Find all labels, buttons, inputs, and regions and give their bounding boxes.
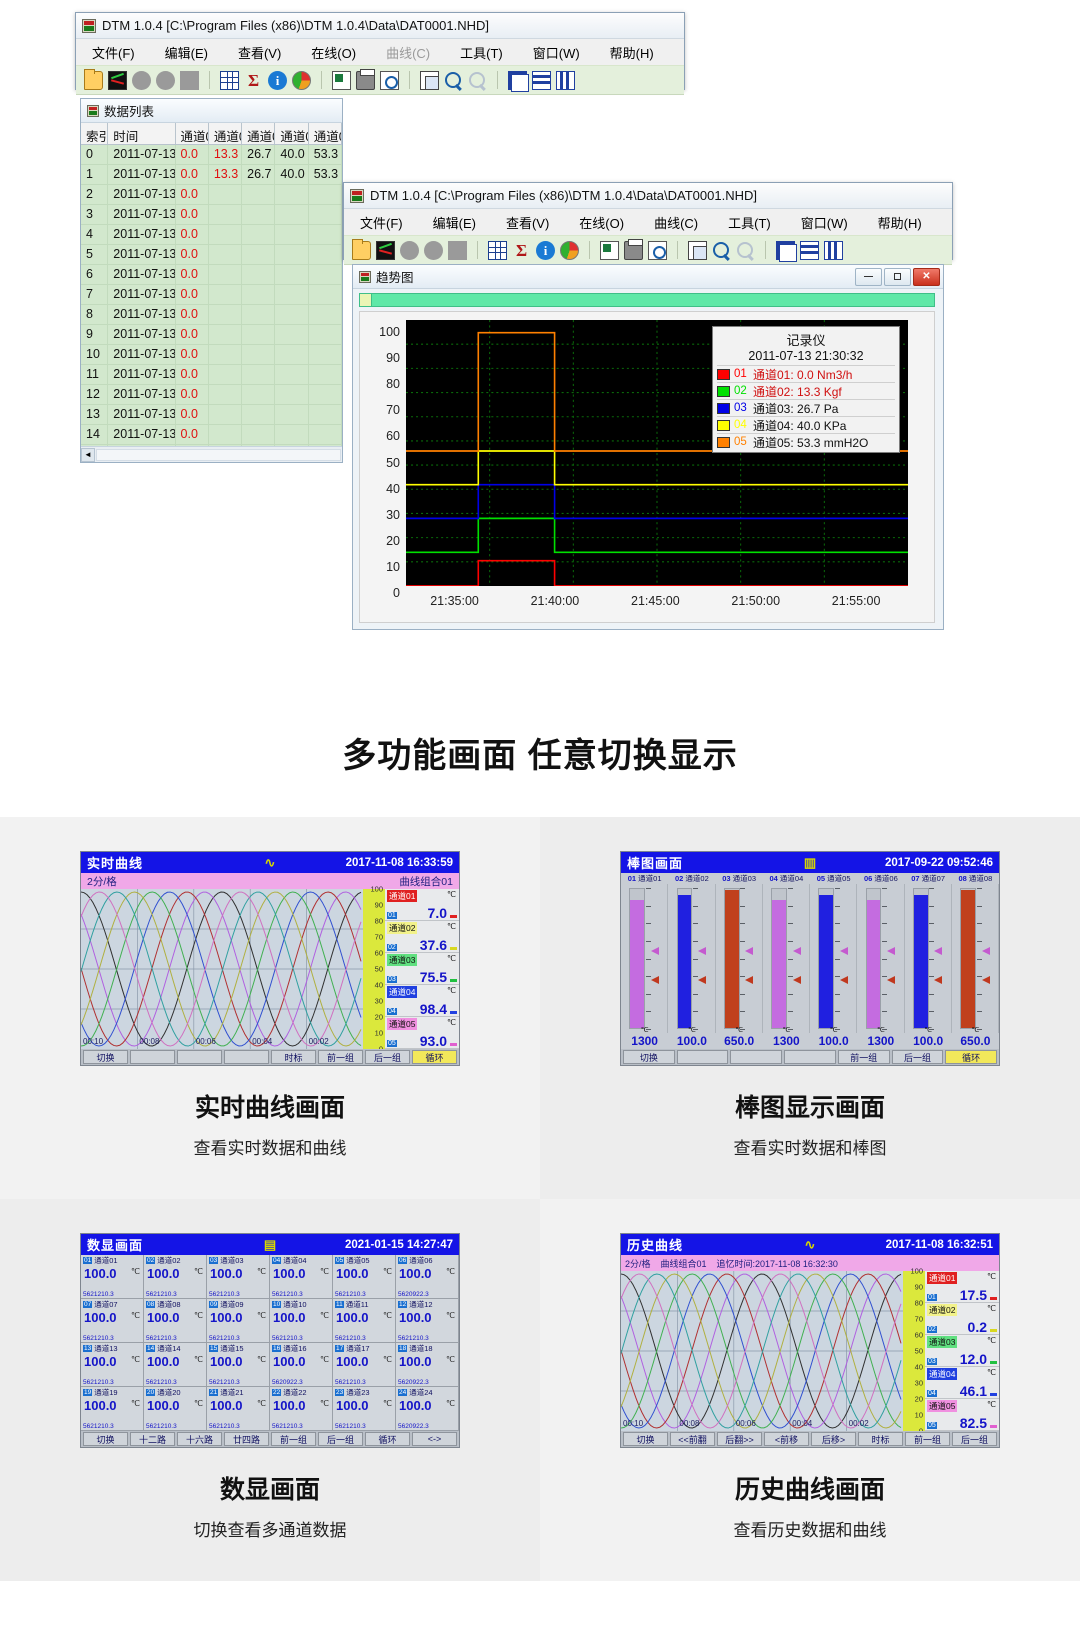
screen-button-bar[interactable]: 切换十二路十六路廿四路前一组后一组循环<-> <box>81 1431 459 1447</box>
bar-column[interactable] <box>810 884 857 1033</box>
bar-columns[interactable] <box>621 884 999 1033</box>
legend-row[interactable]: 01通道01: 0.0 Nm3/h <box>717 365 895 382</box>
screen-button-empty-1[interactable] <box>677 1050 729 1064</box>
tile-horizontal-icon[interactable] <box>800 241 819 260</box>
channel-unit: ℃ <box>447 954 456 963</box>
cell-ch03 <box>242 325 275 344</box>
cell-ch05 <box>309 205 342 224</box>
scroll-left-arrow[interactable]: ◄ <box>81 448 95 462</box>
screen-button-5[interactable]: 时标 <box>858 1432 903 1446</box>
time-label: 00:08 <box>137 1037 193 1049</box>
digital-cell[interactable]: 16通道16℃100.05620922.3 <box>270 1343 333 1387</box>
bar-column[interactable] <box>905 884 952 1033</box>
screen-button-4[interactable]: 后移> <box>811 1432 856 1446</box>
channel-readout-row[interactable]: 通道05℃0582.5 <box>925 1399 999 1431</box>
screen-button-3[interactable]: 廿四路 <box>224 1432 269 1446</box>
info-icon[interactable]: i <box>268 71 287 90</box>
channel-value: 17.5 <box>960 1288 987 1302</box>
menu-view[interactable]: 查看(V) <box>506 213 549 232</box>
recorder-screen-bargraph[interactable]: 棒图画面 ▥ 2017-09-22 09:52:46 01 通道0102 通道0… <box>620 851 1000 1066</box>
channel-index: 04 <box>387 1008 397 1015</box>
cell-ch02 <box>209 185 242 204</box>
stop-square-icon[interactable] <box>180 71 199 90</box>
digital-cell[interactable]: 07通道07℃100.05621210.3 <box>81 1299 144 1343</box>
channel-readout-row[interactable]: 通道03℃0375.5 <box>385 953 459 985</box>
table-row[interactable]: 112011-07-13 21:30:430.0 <box>81 365 342 385</box>
trend-titlebar[interactable]: 趋势图 ✕ <box>353 265 943 289</box>
digital-cell-name: 通道22 <box>283 1387 306 1398</box>
table-row[interactable]: 02011-07-13 21:30:320.013.326.740.053.3 <box>81 145 342 165</box>
screen-button-empty-3[interactable] <box>784 1050 836 1064</box>
data-list-titlebar[interactable]: 数据列表 <box>81 99 342 123</box>
scale-tick: 70 <box>915 1315 923 1324</box>
bar-marker-lower <box>745 976 753 984</box>
channel-readout-strip[interactable]: 通道01℃017.0通道02℃0237.6通道03℃0375.5通道04℃049… <box>385 889 459 1049</box>
legend-text: 通道02: 13.3 Kgf <box>753 383 842 400</box>
digital-cell[interactable]: 19通道19℃100.05621210.3 <box>81 1387 144 1431</box>
cascade-windows-icon[interactable] <box>508 71 527 90</box>
data-list-title: 数据列表 <box>104 101 154 120</box>
digital-cell-footer: 5621210.3 <box>272 1335 303 1342</box>
digital-cell-unit: ℃ <box>131 1355 140 1364</box>
curve-plot[interactable]: 00:1000:0800:0600:0400:02 <box>621 1271 903 1431</box>
chart-icon[interactable] <box>108 71 127 90</box>
menu-window[interactable]: 窗口(W) <box>533 43 580 62</box>
channel-readout-row[interactable]: 通道04℃0446.1 <box>925 1367 999 1399</box>
cell-ch04 <box>275 265 308 284</box>
menu-help[interactable]: 帮助(H) <box>610 43 654 62</box>
screen-button-empty-2[interactable] <box>730 1050 782 1064</box>
window-titlebar-front[interactable]: DTM 1.0.4 [C:\Program Files (x86)\DTM 1.… <box>344 183 952 209</box>
minimize-button[interactable] <box>855 268 882 286</box>
zoom-out-icon[interactable] <box>736 241 755 260</box>
screen-button-bar[interactable]: 切换<<前翻后翻>><前移后移>时标前一组后一组 <box>621 1431 999 1447</box>
screen-button-4[interactable]: 时标 <box>271 1050 316 1064</box>
menubar-front[interactable]: 文件(F) 编辑(E) 查看(V) 在线(O) 曲线(C) 工具(T) 窗口(W… <box>344 209 952 235</box>
chart-icon[interactable] <box>376 241 395 260</box>
cell-ch03 <box>242 305 275 324</box>
table-row[interactable]: 132011-07-13 21:30:450.0 <box>81 405 342 425</box>
bar-value: 650.0 <box>952 1034 999 1048</box>
screen-button-1[interactable]: 十二路 <box>130 1432 175 1446</box>
legend-row[interactable]: 05通道05: 53.3 mmH2O <box>717 433 895 450</box>
y-tick-label: 10 <box>362 560 400 574</box>
cascade-windows-icon[interactable] <box>776 241 795 260</box>
bar-channel-header: 03 通道03 <box>716 873 763 884</box>
y-tick-label: 50 <box>362 456 400 470</box>
excel-export-icon[interactable] <box>332 71 351 90</box>
th-ch05: 通道05(... <box>309 123 342 144</box>
bar-marker-lower <box>840 976 848 984</box>
scale-tick: 60 <box>915 1331 923 1340</box>
maximize-button[interactable] <box>884 268 911 286</box>
screen-titlebar: 数显画面 ▤ 2021-01-15 14:27:47 <box>81 1234 459 1255</box>
legend-text: 通道05: 53.3 mmH2O <box>753 434 868 451</box>
cell-index: 10 <box>81 345 108 364</box>
channel-unit: ℃ <box>987 1400 996 1409</box>
table-row[interactable]: 82011-07-13 21:30:400.0 <box>81 305 342 325</box>
digital-cell-name: 通道02 <box>157 1255 180 1266</box>
cell-ch04 <box>275 285 308 304</box>
menu-file[interactable]: 文件(F) <box>360 213 403 232</box>
screen-button-0[interactable]: 切换 <box>83 1432 128 1446</box>
channel-readout-row[interactable]: 通道03℃0312.0 <box>925 1335 999 1367</box>
digital-cell[interactable]: 18通道18℃100.05620922.3 <box>396 1343 459 1387</box>
x-tick-label: 21:35:00 <box>430 594 479 608</box>
panel-caption-sub: 查看实时数据和棒图 <box>734 1134 887 1159</box>
digital-cell[interactable]: 21通道21℃100.05621210.3 <box>207 1387 270 1431</box>
dtm-window-back[interactable]: DTM 1.0.4 [C:\Program Files (x86)\DTM 1.… <box>75 12 685 90</box>
table-row[interactable]: 102011-07-13 21:30:420.0 <box>81 345 342 365</box>
legend-number: 03 <box>734 402 749 414</box>
channel-unit: ℃ <box>987 1336 996 1345</box>
screen-button-bar[interactable]: 切换时标前一组后一组循环 <box>81 1049 459 1065</box>
tile-vertical-icon[interactable] <box>824 241 843 260</box>
screen-button-6[interactable]: 循环 <box>945 1050 997 1064</box>
cell-ch01: 0.0 <box>176 365 209 384</box>
screen-button-6[interactable]: 后一组 <box>365 1050 410 1064</box>
digital-cell-index: 14 <box>146 1345 155 1352</box>
pause-circle-icon[interactable] <box>156 71 175 90</box>
bar-ticks <box>740 888 745 1029</box>
channel-readout-row[interactable]: 通道02℃020.2 <box>925 1303 999 1335</box>
panel-bar-graph: 棒图画面 ▥ 2017-09-22 09:52:46 01 通道0102 通道0… <box>540 817 1080 1199</box>
digital-cell[interactable]: 11通道11℃100.05621210.3 <box>333 1299 396 1343</box>
bar-column[interactable] <box>716 884 763 1033</box>
info-icon[interactable]: i <box>536 241 555 260</box>
pie-chart-icon[interactable] <box>560 241 579 260</box>
digital-cell[interactable]: 12通道12℃100.05621210.3 <box>396 1299 459 1343</box>
window-buttons[interactable]: ✕ <box>855 268 940 286</box>
channel-value: 0.2 <box>968 1320 987 1334</box>
table-row[interactable]: 122011-07-13 21:30:440.0 <box>81 385 342 405</box>
digital-cell-unit: ℃ <box>320 1355 329 1364</box>
digital-cell-footer: 5621210.3 <box>272 1291 303 1298</box>
zoom-out-icon[interactable] <box>468 71 487 90</box>
digital-cell-footer: 5621210.3 <box>83 1379 114 1386</box>
legend-row[interactable]: 03通道03: 26.7 Pa <box>717 399 895 416</box>
trend-strip-handle[interactable] <box>360 294 372 306</box>
cell-ch05 <box>309 245 342 264</box>
screen-button-1[interactable]: <<前翻 <box>670 1432 715 1446</box>
screen-button-7[interactable]: 循环 <box>412 1050 457 1064</box>
x-tick-label: 21:40:00 <box>531 594 580 608</box>
stop-square-icon[interactable] <box>448 241 467 260</box>
zoom-in-icon[interactable] <box>712 241 731 260</box>
recorder-screen-history[interactable]: 历史曲线 ∿ 2017-11-08 16:32:51 2分/格 曲线组合01 追… <box>620 1233 1000 1448</box>
menu-edit[interactable]: 编辑(E) <box>433 213 476 232</box>
screen-button-4[interactable]: 前一组 <box>838 1050 890 1064</box>
screen-button-7[interactable]: <-> <box>412 1432 457 1446</box>
screen-button-2[interactable]: 后翻>> <box>717 1432 762 1446</box>
bar-ticks <box>788 888 793 1029</box>
digital-cell-unit: ℃ <box>194 1399 203 1408</box>
table-row[interactable]: 42011-07-13 21:30:360.0 <box>81 225 342 245</box>
digital-cell[interactable]: 10通道10℃100.05621210.3 <box>270 1299 333 1343</box>
channel-unit: ℃ <box>447 986 456 995</box>
data-list-table[interactable]: 索引 时间 通道01(... 通道02(K... 通道03(Pa) 通道04(K… <box>81 123 342 446</box>
legend-swatch <box>717 437 730 448</box>
x-tick-label: 21:55:00 <box>832 594 881 608</box>
bar-fill <box>725 890 739 1028</box>
digital-cell-unit: ℃ <box>320 1267 329 1276</box>
bar-channel-header: 07 通道07 <box>905 873 952 884</box>
digital-cell[interactable]: 14通道14℃100.05621210.3 <box>144 1343 207 1387</box>
digital-cell-index: 24 <box>398 1389 407 1396</box>
screen-titlebar: 实时曲线 ∿ 2017-11-08 16:33:59 <box>81 852 459 873</box>
copy-icon[interactable] <box>420 71 439 90</box>
toolbar-front[interactable]: Σ i <box>344 235 952 265</box>
channel-readout-strip[interactable]: 通道01℃0117.5通道02℃020.2通道03℃0312.0通道04℃044… <box>925 1271 999 1431</box>
toolbar-back[interactable]: Σ i <box>76 65 684 95</box>
cell-ch03 <box>242 365 275 384</box>
screen-button-empty-2[interactable] <box>177 1050 222 1064</box>
menu-tools[interactable]: 工具(T) <box>728 213 771 232</box>
legend-number: 01 <box>734 368 749 380</box>
cell-index: 12 <box>81 385 108 404</box>
bar-fill <box>678 895 692 1028</box>
table-row[interactable]: 72011-07-13 21:30:390.0 <box>81 285 342 305</box>
channel-value: 93.0 <box>420 1034 447 1048</box>
screen-button-0[interactable]: 切换 <box>623 1432 668 1446</box>
table-icon[interactable] <box>488 241 507 260</box>
menu-online[interactable]: 在线(O) <box>579 213 624 232</box>
record-circle-icon[interactable] <box>400 241 419 260</box>
menu-window[interactable]: 窗口(W) <box>801 213 848 232</box>
panel-history-curve: 历史曲线 ∿ 2017-11-08 16:32:51 2分/格 曲线组合01 追… <box>540 1199 1080 1581</box>
table-row[interactable]: 52011-07-13 21:30:370.0 <box>81 245 342 265</box>
excel-export-icon[interactable] <box>600 241 619 260</box>
cell-time: 2011-07-13 21:30:46 <box>108 425 175 444</box>
table-icon[interactable] <box>220 71 239 90</box>
menu-tools[interactable]: 工具(T) <box>460 43 503 62</box>
channel-value: 7.0 <box>428 906 447 920</box>
digital-cell[interactable]: 02通道02℃100.05621210.3 <box>144 1255 207 1299</box>
record-circle-icon[interactable] <box>132 71 151 90</box>
cell-time: 2011-07-13 21:30:37 <box>108 245 175 264</box>
digital-cell[interactable]: 03通道03℃100.05621210.3 <box>207 1255 270 1299</box>
digital-cell-index: 22 <box>272 1389 281 1396</box>
digital-cell-name: 通道21 <box>220 1387 243 1398</box>
digital-cell[interactable]: 22通道22℃100.05621210.3 <box>270 1387 333 1431</box>
bar-values-row: 1300100.0650.01300100.01300100.0650.0 <box>621 1033 999 1049</box>
digital-cell[interactable]: 13通道13℃100.05621210.3 <box>81 1343 144 1387</box>
legend-row[interactable]: 02通道02: 13.3 Kgf <box>717 382 895 399</box>
cell-ch02 <box>209 365 242 384</box>
channel-readout-row[interactable]: 通道01℃017.0 <box>385 889 459 921</box>
table-row[interactable]: 22011-07-13 21:30:340.0 <box>81 185 342 205</box>
digital-cell-header: 12通道12 <box>396 1299 458 1310</box>
channel-readout-row[interactable]: 通道05℃0593.0 <box>385 1017 459 1049</box>
table-row[interactable]: 92011-07-13 21:30:410.0 <box>81 325 342 345</box>
bar-track <box>913 888 929 1029</box>
bar-marker-upper <box>887 947 895 955</box>
channel-unit: ℃ <box>447 1018 456 1027</box>
digital-cell[interactable]: 05通道05℃100.05621210.3 <box>333 1255 396 1299</box>
time-label: 00:04 <box>790 1419 846 1431</box>
digital-cell-name: 通道20 <box>157 1387 180 1398</box>
window-title-text: DTM 1.0.4 [C:\Program Files (x86)\DTM 1.… <box>370 188 757 203</box>
screen-button-empty-1[interactable] <box>130 1050 175 1064</box>
screen-button-6[interactable]: 前一组 <box>905 1432 950 1446</box>
channel-readout-row[interactable]: 通道01℃0117.5 <box>925 1271 999 1303</box>
digital-cell[interactable]: 20通道20℃100.05621210.3 <box>144 1387 207 1431</box>
channel-name: 通道02 <box>387 922 417 934</box>
screen-title: 历史曲线 <box>627 1235 683 1254</box>
digital-cell[interactable]: 08通道08℃100.05621210.3 <box>144 1299 207 1343</box>
y-tick-label: 100 <box>362 325 400 339</box>
digits-icon: ▤ <box>264 1237 276 1253</box>
digital-cell-header: 21通道21 <box>207 1387 269 1398</box>
bar-marker-lower <box>982 976 990 984</box>
digital-cell-header: 07通道07 <box>81 1299 143 1310</box>
screen-button-5[interactable]: 后一组 <box>318 1432 363 1446</box>
cell-ch03 <box>242 265 275 284</box>
digital-cell-grid[interactable]: 01通道01℃100.05621210.302通道02℃100.05621210… <box>81 1255 459 1431</box>
menu-view[interactable]: 查看(V) <box>238 43 281 62</box>
screen-titlebar: 棒图画面 ▥ 2017-09-22 09:52:46 <box>621 852 999 873</box>
window-titlebar-back[interactable]: DTM 1.0.4 [C:\Program Files (x86)\DTM 1.… <box>76 13 684 39</box>
pie-chart-icon[interactable] <box>292 71 311 90</box>
menu-curve[interactable]: 曲线(C) <box>654 213 698 232</box>
bar-marker-lower <box>934 976 942 984</box>
open-folder-icon[interactable] <box>84 71 103 90</box>
panel-realtime-curve: 实时曲线 ∿ 2017-11-08 16:33:59 2分/格 曲线组合01 0… <box>0 817 540 1199</box>
screen-button-3[interactable]: <前移 <box>764 1432 809 1446</box>
menubar-back[interactable]: 文件(F) 编辑(E) 查看(V) 在线(O) 曲线(C) 工具(T) 窗口(W… <box>76 39 684 65</box>
time-label: 00:10 <box>81 1037 137 1049</box>
print-preview-icon[interactable] <box>648 241 667 260</box>
digital-cell-header: 18通道18 <box>396 1343 458 1354</box>
recorder-screen-realtime[interactable]: 实时曲线 ∿ 2017-11-08 16:33:59 2分/格 曲线组合01 0… <box>80 851 460 1066</box>
screen-button-2[interactable]: 十六路 <box>177 1432 222 1446</box>
menu-file[interactable]: 文件(F) <box>92 43 135 62</box>
bar-column[interactable] <box>952 884 999 1033</box>
screen-button-5[interactable]: 前一组 <box>318 1050 363 1064</box>
cell-ch05: 53.3 <box>309 165 342 184</box>
bar-column[interactable] <box>857 884 904 1033</box>
cell-ch04 <box>275 385 308 404</box>
table-row[interactable]: 142011-07-13 21:30:460.0 <box>81 425 342 445</box>
copy-icon[interactable] <box>688 241 707 260</box>
pause-circle-icon[interactable] <box>424 241 443 260</box>
trend-title: 趋势图 <box>376 267 414 286</box>
cell-ch03 <box>242 205 275 224</box>
digital-cell[interactable]: 24通道24℃100.05620922.3 <box>396 1387 459 1431</box>
legend-row[interactable]: 04通道04: 40.0 KPa <box>717 416 895 433</box>
menu-edit[interactable]: 编辑(E) <box>165 43 208 62</box>
app-icon <box>87 105 99 117</box>
digital-cell[interactable]: 23通道23℃100.05621210.3 <box>333 1387 396 1431</box>
screen-button-7[interactable]: 后一组 <box>952 1432 997 1446</box>
screen-button-bar[interactable]: 切换前一组后一组循环 <box>621 1049 999 1065</box>
time-label: 00:02 <box>307 1037 363 1049</box>
bar-column[interactable] <box>621 884 668 1033</box>
screen-button-0[interactable]: 切换 <box>623 1050 675 1064</box>
app-icon <box>359 271 371 283</box>
data-list-window[interactable]: 数据列表 索引 时间 通道01(... 通道02(K... 通道03(Pa) 通… <box>80 98 343 463</box>
screen-button-5[interactable]: 后一组 <box>892 1050 944 1064</box>
screen-button-0[interactable]: 切换 <box>83 1050 128 1064</box>
screen-button-4[interactable]: 前一组 <box>271 1432 316 1446</box>
digital-cell-footer: 5621210.3 <box>398 1335 429 1342</box>
cell-ch02: 13.3 <box>209 165 242 184</box>
digital-cell-index: 06 <box>398 1257 407 1264</box>
digital-cell[interactable]: 01通道01℃100.05621210.3 <box>81 1255 144 1299</box>
sigma-icon[interactable]: Σ <box>512 241 531 260</box>
digital-cell-index: 18 <box>398 1345 407 1352</box>
digital-cell-index: 09 <box>209 1301 218 1308</box>
y-tick-label: 40 <box>362 482 400 496</box>
recorder-screen-digital[interactable]: 数显画面 ▤ 2021-01-15 14:27:47 01通道01℃100.05… <box>80 1233 460 1448</box>
cell-time: 2011-07-13 21:30:44 <box>108 385 175 404</box>
sigma-icon[interactable]: Σ <box>244 71 263 90</box>
data-list-hscrollbar[interactable]: ◄ <box>81 446 342 462</box>
tile-vertical-icon[interactable] <box>556 71 575 90</box>
screen-button-6[interactable]: 循环 <box>365 1432 410 1446</box>
channel-value: 98.4 <box>420 1002 447 1016</box>
print-icon[interactable] <box>624 241 643 260</box>
tile-horizontal-icon[interactable] <box>532 71 551 90</box>
menu-curve[interactable]: 曲线(C) <box>386 43 430 62</box>
trend-legend[interactable]: 记录仪 2011-07-13 21:30:32 01通道01: 0.0 Nm3/… <box>712 326 900 453</box>
cell-index: 1 <box>81 165 108 184</box>
digital-cell-header: 16通道16 <box>270 1343 332 1354</box>
digital-cell[interactable]: 09通道09℃100.05621210.3 <box>207 1299 270 1343</box>
digital-cell-header: 20通道20 <box>144 1387 206 1398</box>
digital-cell-footer: 5621210.3 <box>209 1335 240 1342</box>
scroll-track[interactable] <box>96 449 341 461</box>
bar-ticks <box>977 888 982 1029</box>
curve-plot[interactable]: 00:1000:0800:0600:0400:02 <box>81 889 363 1049</box>
table-row[interactable]: 12011-07-13 21:30:330.013.326.740.053.3 <box>81 165 342 185</box>
channel-readout-row[interactable]: 通道04℃0498.4 <box>385 985 459 1017</box>
open-folder-icon[interactable] <box>352 241 371 260</box>
digital-cell-unit: ℃ <box>320 1311 329 1320</box>
cell-index: 9 <box>81 325 108 344</box>
channel-unit: ℃ <box>987 1368 996 1377</box>
channel-index: 02 <box>387 944 397 951</box>
table-row[interactable]: 32011-07-13 21:30:350.0 <box>81 205 342 225</box>
digital-cell[interactable]: 15通道15℃100.05621210.3 <box>207 1343 270 1387</box>
dtm-window-front[interactable]: DTM 1.0.4 [C:\Program Files (x86)\DTM 1.… <box>343 182 953 260</box>
close-button[interactable]: ✕ <box>913 268 940 286</box>
menu-help[interactable]: 帮助(H) <box>878 213 922 232</box>
time-label: 00:08 <box>677 1419 733 1431</box>
zoom-in-icon[interactable] <box>444 71 463 90</box>
panel-caption-title: 数显画面 <box>220 1470 320 1506</box>
bar-fill <box>772 900 786 1028</box>
cell-ch03 <box>242 185 275 204</box>
digital-cell[interactable]: 06通道06℃100.05620922.3 <box>396 1255 459 1299</box>
y-tick-label: 60 <box>362 429 400 443</box>
bar-column[interactable] <box>763 884 810 1033</box>
print-preview-icon[interactable] <box>380 71 399 90</box>
table-row[interactable]: 62011-07-13 21:30:380.0 <box>81 265 342 285</box>
bar-track <box>818 888 834 1029</box>
menu-online[interactable]: 在线(O) <box>311 43 356 62</box>
digital-cell-index: 08 <box>146 1301 155 1308</box>
digital-cell[interactable]: 04通道04℃100.05621210.3 <box>270 1255 333 1299</box>
channel-readout-row[interactable]: 通道02℃0237.6 <box>385 921 459 953</box>
digital-cell[interactable]: 17通道17℃100.05621210.3 <box>333 1343 396 1387</box>
print-icon[interactable] <box>356 71 375 90</box>
screen-button-empty-3[interactable] <box>224 1050 269 1064</box>
digital-cell-unit: ℃ <box>131 1399 140 1408</box>
bar-column[interactable] <box>668 884 715 1033</box>
bar-value: 1300 <box>857 1034 904 1048</box>
trend-chart-window[interactable]: 趋势图 ✕ 0102030405060708090100 21:35:0021:… <box>352 264 944 630</box>
